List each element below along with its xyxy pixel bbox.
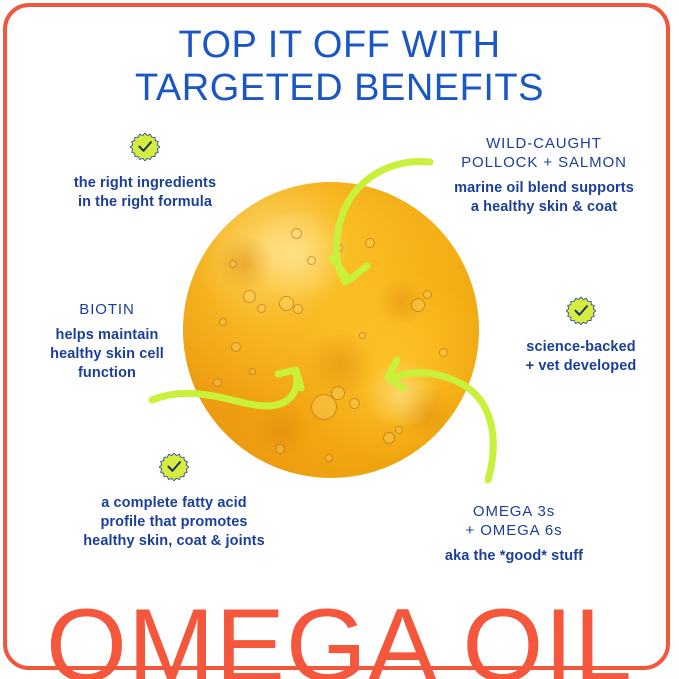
product-wordmark: OMEGA OIL <box>0 597 679 679</box>
callout-biotin-body: helps maintain healthy skin cell functio… <box>8 326 206 383</box>
callout-biotin: BIOTIN helps maintain healthy skin cell … <box>8 300 206 383</box>
callout-omega-kicker: OMEGA 3s + OMEGA 6s <box>398 502 630 540</box>
callout-omega-body: aka the *good* stuff <box>398 547 630 566</box>
callout-science-body: science-backed + vet developed <box>490 338 672 376</box>
omega-oil-infographic: TOP IT OFF WITH TARGETED BENEFITS the ri… <box>0 0 679 679</box>
check-badge-icon <box>566 296 596 326</box>
check-badge-icon <box>130 132 160 162</box>
callout-fatty-acid-profile: a complete fatty acid profile that promo… <box>42 452 306 551</box>
callout-right-ingredients: the right ingredients in the right formu… <box>30 132 260 212</box>
callout-wild-caught-pollock-salmon: WILD-CAUGHT POLLOCK + SALMON marine oil … <box>420 134 668 217</box>
oil-circle-image <box>183 182 479 478</box>
callout-pollock-body: marine oil blend supports a healthy skin… <box>420 179 668 217</box>
headline-line-1: TOP IT OFF WITH <box>0 24 679 67</box>
page-title: TOP IT OFF WITH TARGETED BENEFITS <box>0 24 679 109</box>
callout-biotin-kicker: BIOTIN <box>8 300 206 319</box>
callout-fatty-acid-body: a complete fatty acid profile that promo… <box>42 494 306 551</box>
check-badge-icon <box>159 452 189 482</box>
callout-science-backed: science-backed + vet developed <box>490 296 672 376</box>
headline-line-2: TARGETED BENEFITS <box>0 67 679 110</box>
callout-omega-3s-6s: OMEGA 3s + OMEGA 6s aka the *good* stuff <box>398 502 630 566</box>
callout-ingredients-body: the right ingredients in the right formu… <box>30 174 260 212</box>
callout-pollock-kicker: WILD-CAUGHT POLLOCK + SALMON <box>420 134 668 172</box>
